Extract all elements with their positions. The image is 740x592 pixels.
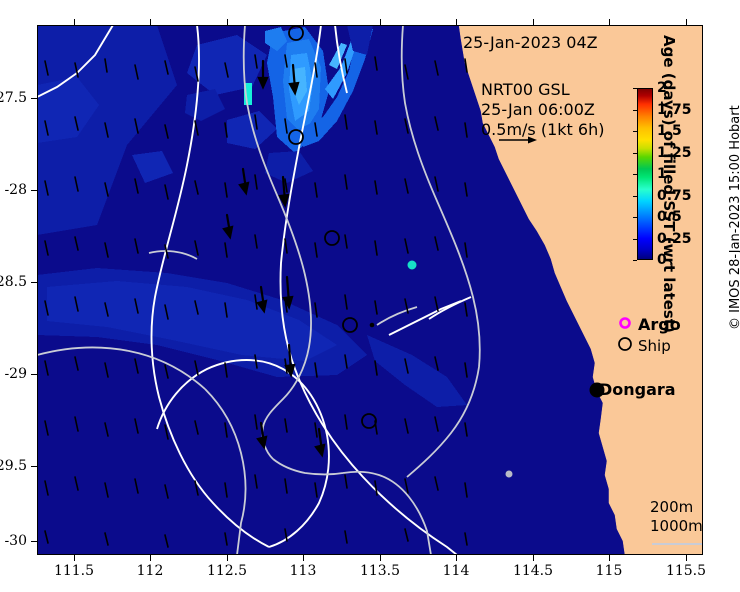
y-tick — [31, 282, 37, 283]
timestamp-label: 25-Jan-2023 04Z — [463, 33, 598, 52]
y-tick — [31, 98, 37, 99]
station-dot — [506, 471, 513, 478]
colorbar-tick — [633, 110, 637, 111]
model-name-label: NRT00 GSL — [481, 80, 604, 100]
y-tick-label: -29.5 — [0, 458, 27, 474]
figure-root: 25-Jan-2023 04Z NRT00 GSL 25-Jan 06:00Z … — [0, 0, 740, 592]
ship-marker[interactable] — [325, 231, 339, 245]
x-tick-label: 115 — [574, 563, 644, 579]
dongara-place-label: Dongara — [599, 380, 676, 399]
x-tick-top — [150, 19, 151, 25]
legend-label-ship: Ship — [638, 337, 671, 355]
y-tick — [31, 466, 37, 467]
model-annotation-block: NRT00 GSL 25-Jan 06:00Z 0.5m/s (1kt 6h) — [481, 80, 604, 140]
x-tick-label: 113 — [268, 563, 338, 579]
x-tick-label: 112 — [115, 563, 185, 579]
y-tick-label: -28 — [0, 182, 27, 198]
colorbar-title: Age (days) of filled SST (wrt latest) — [660, 35, 678, 333]
x-tick-top — [533, 19, 534, 25]
ship-marker[interactable] — [289, 130, 303, 144]
x-tick — [303, 555, 304, 561]
x-tick — [686, 555, 687, 561]
y-tick-label: -27.5 — [0, 90, 27, 106]
x-tick — [227, 555, 228, 561]
x-tick-top — [686, 19, 687, 25]
x-tick-top — [303, 19, 304, 25]
y-tick-label: -29 — [0, 366, 27, 382]
depth-key-200m: 200m — [650, 498, 703, 517]
colorbar-tick — [633, 88, 637, 89]
credit-label: © IMOS 28-Jan-2023 15:00 Hobart — [728, 105, 740, 330]
reference-vector-arrow — [497, 133, 541, 147]
colorbar-gradient — [637, 88, 653, 260]
legend-item-ship[interactable]: Ship — [612, 335, 681, 357]
colorbar: 0 0.25 0.5 0.75 1 1.25 1.5 1.75 2 — [637, 88, 653, 260]
ship-marker[interactable] — [343, 318, 357, 332]
model-time-label: 25-Jan 06:00Z — [481, 100, 604, 120]
x-tick-label: 114.5 — [498, 563, 568, 579]
x-tick-top — [227, 19, 228, 25]
x-tick-label: 111.5 — [39, 563, 109, 579]
x-tick-top — [380, 19, 381, 25]
x-tick — [609, 555, 610, 561]
x-tick — [380, 555, 381, 561]
depth-key-1000m: 1000m — [650, 517, 703, 536]
x-tick — [533, 555, 534, 561]
x-tick-label: 114 — [421, 563, 491, 579]
ship-icon — [612, 336, 638, 356]
x-tick-top — [74, 19, 75, 25]
x-tick — [150, 555, 151, 561]
ship-marker[interactable] — [289, 26, 303, 40]
colorbar-tick — [633, 131, 637, 132]
x-tick-label: 113.5 — [345, 563, 415, 579]
x-tick-label: 115.5 — [651, 563, 721, 579]
y-tick — [31, 190, 37, 191]
x-tick — [74, 555, 75, 561]
argo-marker[interactable] — [408, 261, 416, 269]
y-tick-label: -30 — [0, 533, 27, 549]
y-tick — [31, 374, 37, 375]
colorbar-tick — [633, 196, 637, 197]
bathymetry-depth-key: 200m 1000m — [650, 498, 703, 549]
colorbar-tick — [633, 239, 637, 240]
colorbar-tick — [633, 217, 637, 218]
station-dot — [370, 323, 375, 328]
ship-marker[interactable] — [362, 414, 376, 428]
argo-icon — [612, 315, 638, 334]
colorbar-tick — [633, 174, 637, 175]
x-tick — [456, 555, 457, 561]
colorbar-tick — [633, 153, 637, 154]
x-tick-top — [456, 19, 457, 25]
map-plot-area[interactable]: 25-Jan-2023 04Z NRT00 GSL 25-Jan 06:00Z … — [37, 25, 703, 555]
y-tick — [31, 541, 37, 542]
x-tick-label: 112.5 — [192, 563, 262, 579]
depth-key-lines — [650, 537, 703, 549]
colorbar-tick — [633, 260, 637, 261]
y-tick-label: -28.5 — [0, 274, 27, 290]
x-tick-top — [609, 19, 610, 25]
